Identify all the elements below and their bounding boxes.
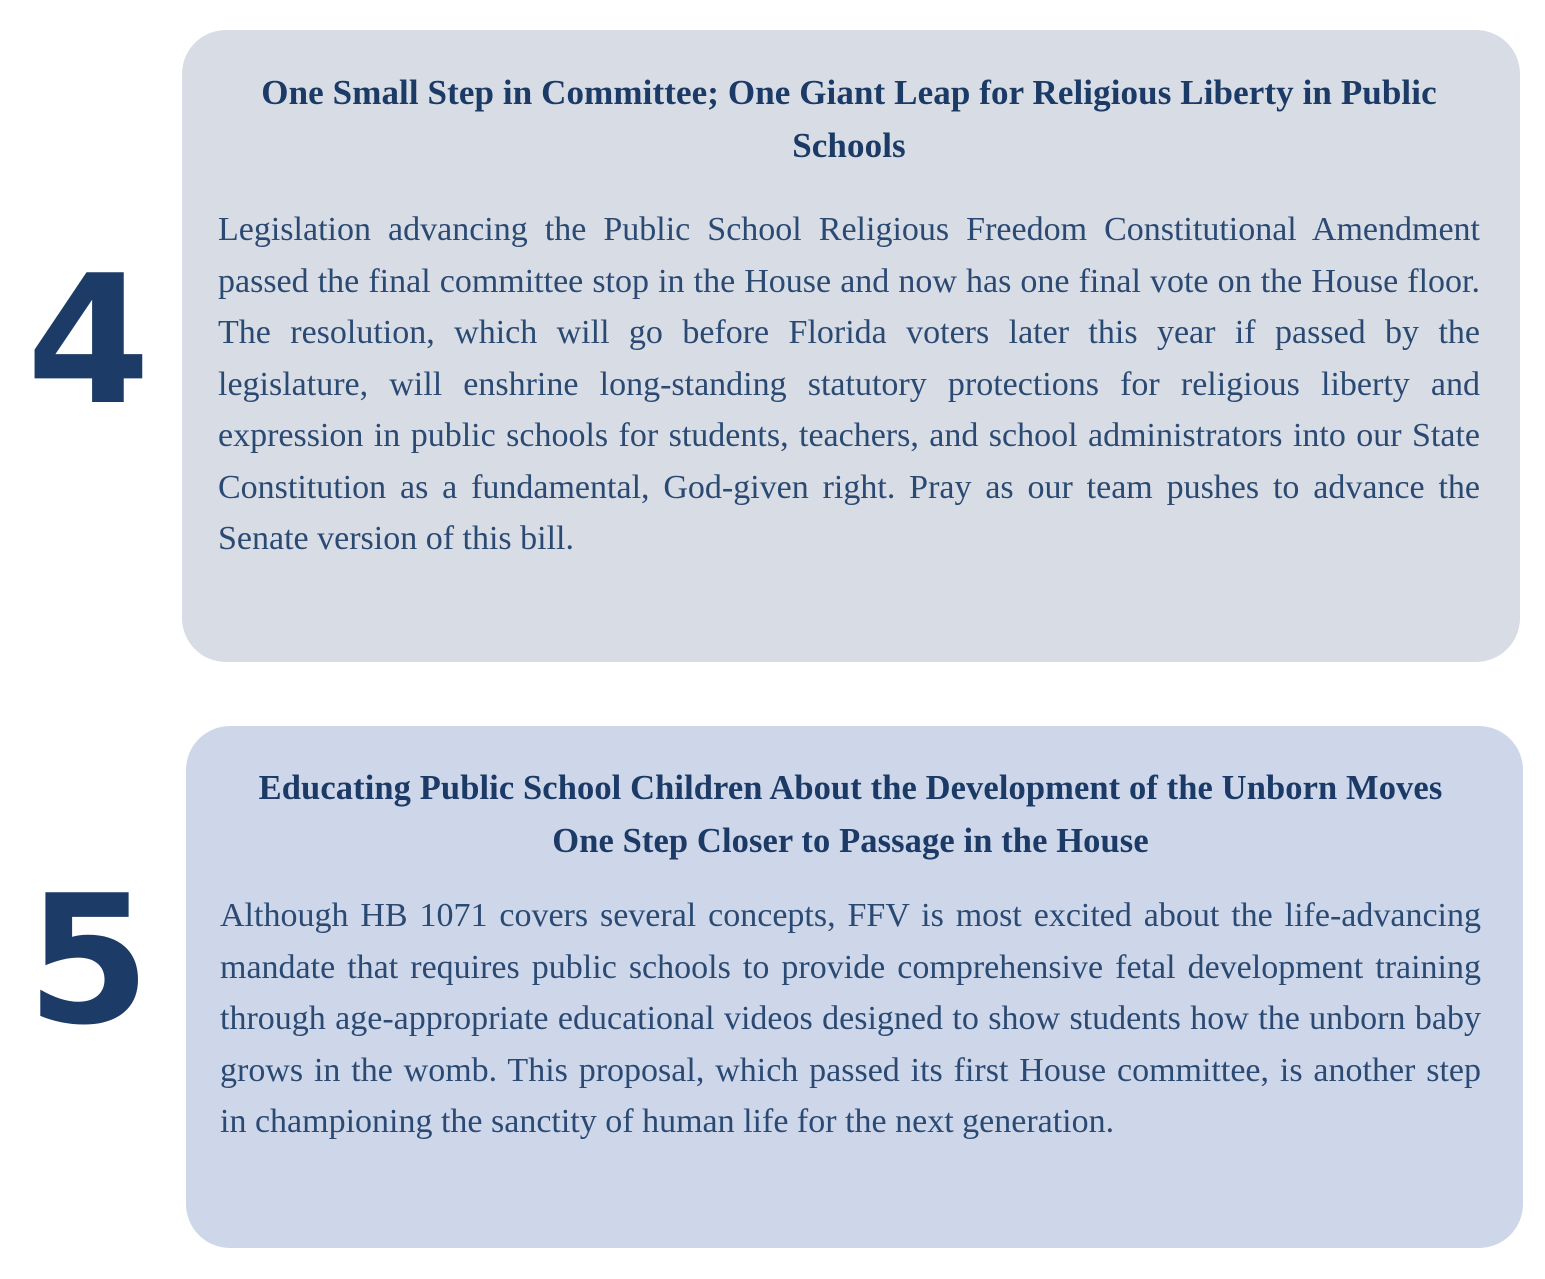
item-number-4: 4 (0, 252, 175, 430)
item-number-5: 5 (0, 872, 175, 1050)
card-title: Educating Public School Children About t… (220, 762, 1481, 868)
content-card-4: One Small Step in Committee; One Giant L… (182, 30, 1520, 662)
card-body-text: Although HB 1071 covers several concepts… (220, 890, 1481, 1148)
document-page: 4 One Small Step in Committee; One Giant… (0, 0, 1545, 1279)
card-body-text: Legislation advancing the Public School … (218, 204, 1480, 565)
content-card-5: Educating Public School Children About t… (186, 726, 1523, 1248)
card-title: One Small Step in Committee; One Giant L… (218, 66, 1480, 172)
